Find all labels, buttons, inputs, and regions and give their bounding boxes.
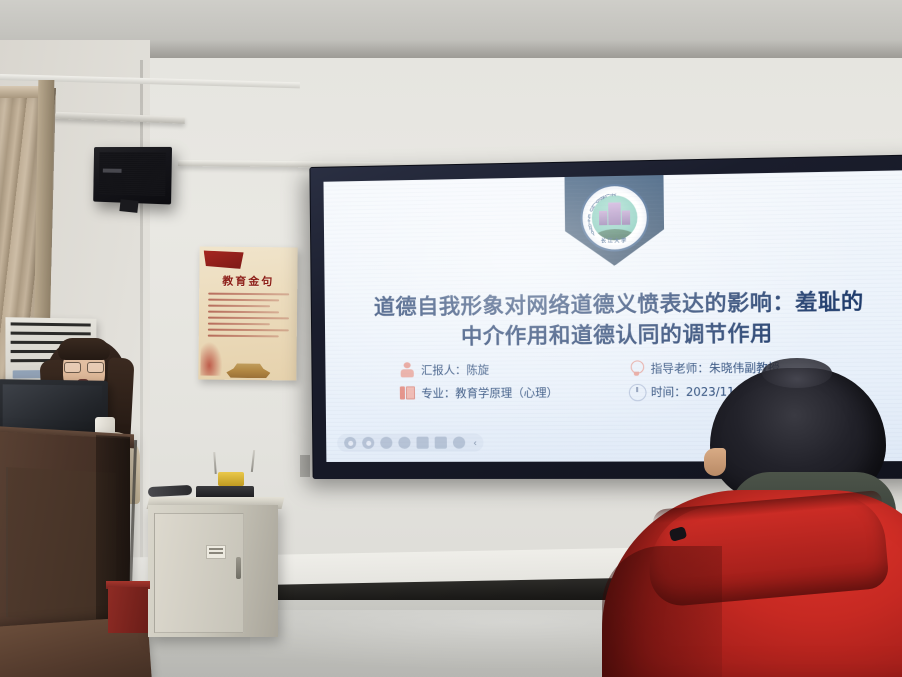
red-storage-box (108, 587, 148, 633)
pointer-tool-icon[interactable] (345, 437, 357, 449)
poster-banner-icon (203, 251, 243, 269)
audience-hair-highlight (762, 358, 832, 388)
whiteboard-icon[interactable] (417, 437, 429, 449)
circle-tool-icon[interactable] (363, 437, 375, 449)
more-icon[interactable] (453, 437, 465, 449)
meta-major-text: 专业：教育学原理（心理） (421, 384, 558, 401)
meta-major: 专业：教育学原理（心理） (400, 384, 615, 401)
person-icon (400, 362, 415, 377)
crest-seal: YANGTZE UNIVERSITY 长江大学 (580, 184, 649, 252)
crest-chinese-text: 长江大学 (582, 237, 646, 245)
cabinet-label (206, 545, 226, 559)
poster-gate-icon (226, 360, 270, 378)
collapse-toolbar-button[interactable]: ‹ (474, 438, 477, 447)
slide-title-line-1: 道德自我形象对网络道德义愤表达的影响：羞耻的 (347, 287, 891, 324)
wall-corner-seam (140, 60, 143, 620)
book-icon (400, 385, 415, 400)
slide-title-line-2: 中介作用和道德认同的调节作用 (348, 318, 893, 354)
university-crest-icon: YANGTZE UNIVERSITY 长江大学 (564, 171, 664, 271)
audience-shoulder-shadow (602, 546, 722, 677)
poster-flower-motif (200, 342, 222, 376)
cabinet-door[interactable] (154, 513, 244, 633)
slide-title: 道德自我形象对网络道德义愤表达的影响：羞耻的 中介作用和道德认同的调节作用 (347, 287, 892, 354)
poster-title: 教育金句 (199, 272, 297, 289)
presenter-glasses (64, 362, 104, 371)
presenter-toolbar[interactable]: ‹ (338, 434, 484, 453)
wall-speaker-icon (93, 147, 172, 205)
speaker-grille (99, 152, 166, 196)
presenter-fringe (58, 338, 110, 360)
metal-cabinet (148, 505, 278, 637)
speaker-badge (103, 169, 122, 173)
cabinet-handle[interactable] (236, 557, 241, 579)
laser-tool-icon[interactable] (399, 437, 411, 449)
screen-icon[interactable] (435, 437, 447, 449)
poster-body-text (208, 293, 289, 342)
audience-member (612, 360, 902, 677)
meta-presenter: 汇报人：陈旋 (400, 360, 615, 378)
classroom-scene: 教育金句 (0, 0, 902, 677)
pen-tool-icon[interactable] (381, 437, 393, 449)
audience-ear (704, 448, 726, 476)
wall-fixture (300, 455, 310, 477)
speaker-bracket (119, 199, 138, 213)
meta-presenter-text: 汇报人：陈旋 (421, 361, 489, 378)
network-adapter (218, 472, 244, 486)
vent-label (13, 370, 43, 378)
wall-poster: 教育金句 (198, 246, 297, 380)
